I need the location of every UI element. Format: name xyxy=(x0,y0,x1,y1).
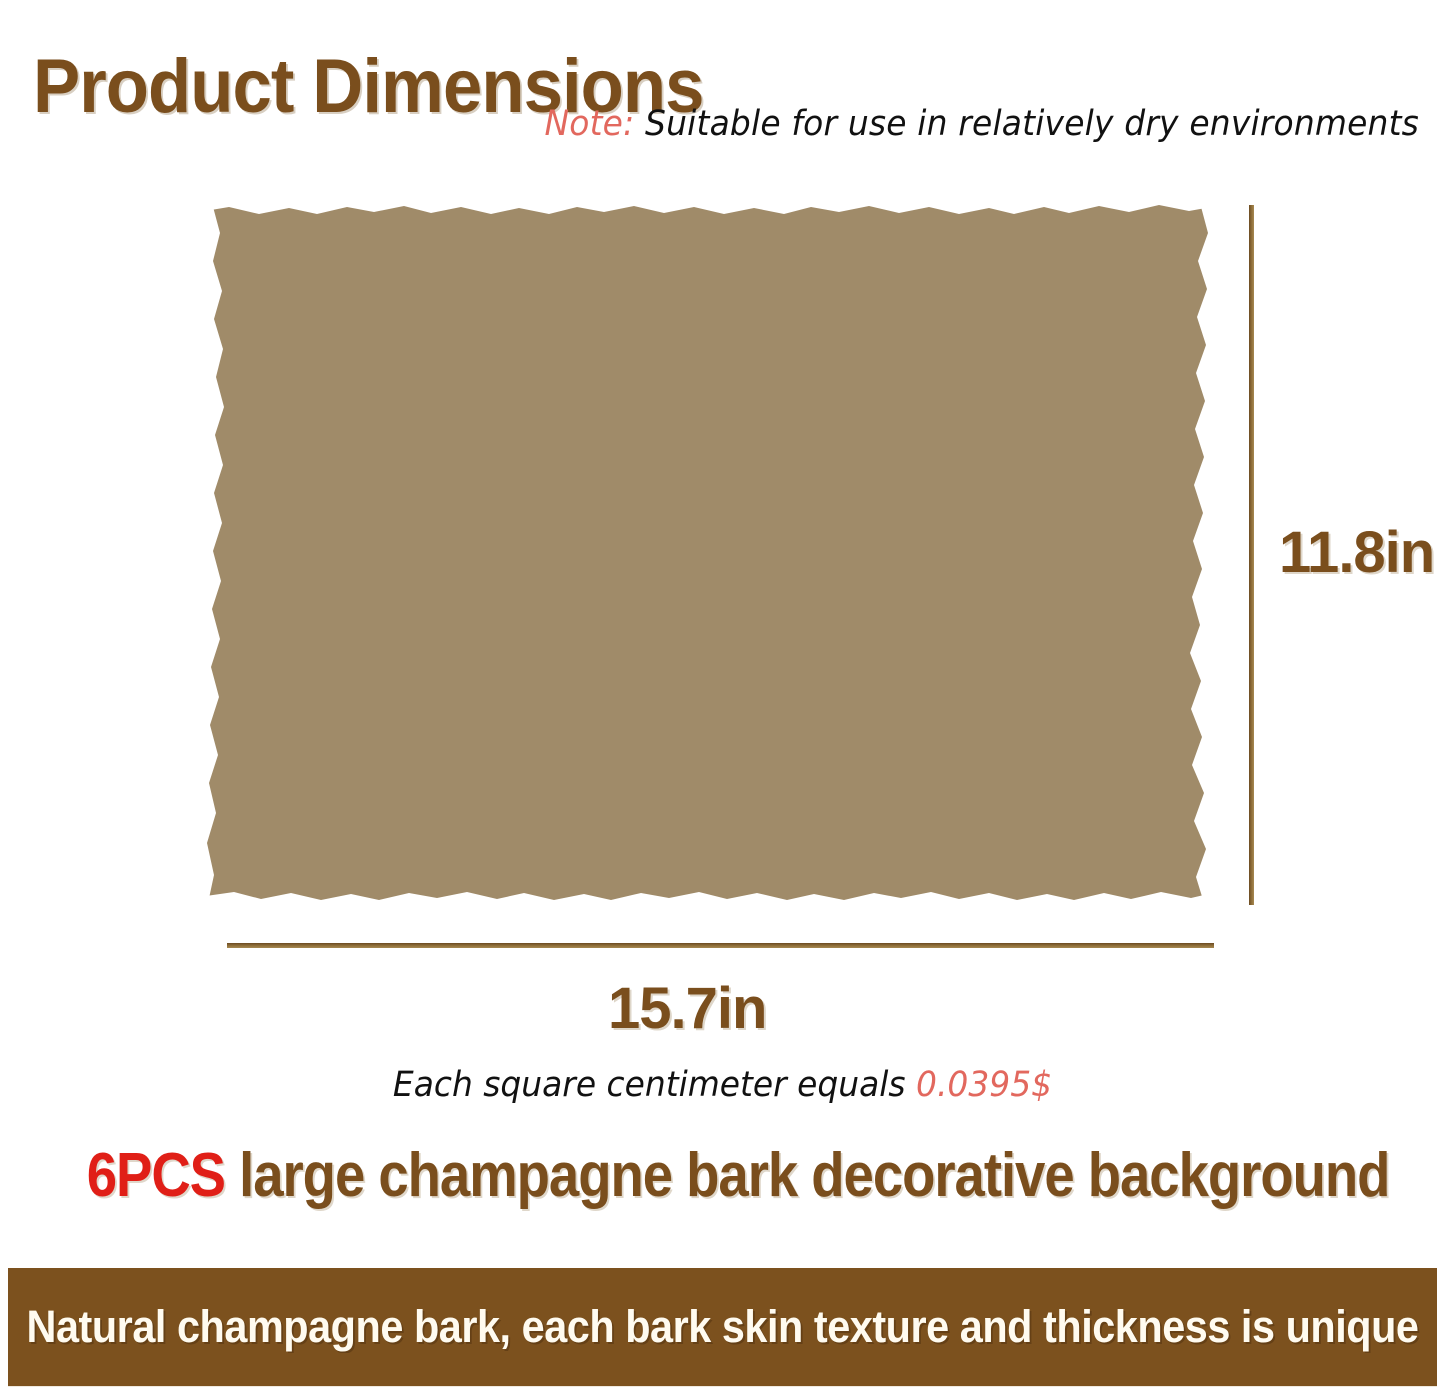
bottom-banner-text: Natural champagne bark, each bark skin t… xyxy=(27,1301,1419,1353)
height-dimension-line xyxy=(1249,205,1254,905)
note-label: Note: xyxy=(544,104,634,144)
price-note: Each square centimeter equals 0.0395$ xyxy=(43,1065,1401,1105)
price-note-text: Each square centimeter equals xyxy=(393,1065,916,1105)
note-line: Note: Suitable for use in relatively dry… xyxy=(85,104,1419,144)
headline-text: large champagne bark decorative backgrou… xyxy=(225,1141,1389,1210)
note-text: Suitable for use in relatively dry envir… xyxy=(634,104,1419,144)
price-note-value: 0.0395$ xyxy=(916,1065,1052,1105)
bark-texture xyxy=(199,203,1217,903)
height-dimension-label: 11.8in xyxy=(1279,519,1434,586)
headline-count: 6PCS xyxy=(87,1141,225,1210)
product-headline: 6PCS large champagne bark decorative bac… xyxy=(87,1140,1359,1211)
width-dimension-label: 15.7in xyxy=(608,975,766,1042)
product-infographic: Product Dimensions Note: Suitable for us… xyxy=(0,0,1445,1392)
bottom-banner: Natural champagne bark, each bark skin t… xyxy=(8,1268,1437,1386)
width-dimension-line xyxy=(227,943,1214,948)
product-image xyxy=(199,203,1217,903)
